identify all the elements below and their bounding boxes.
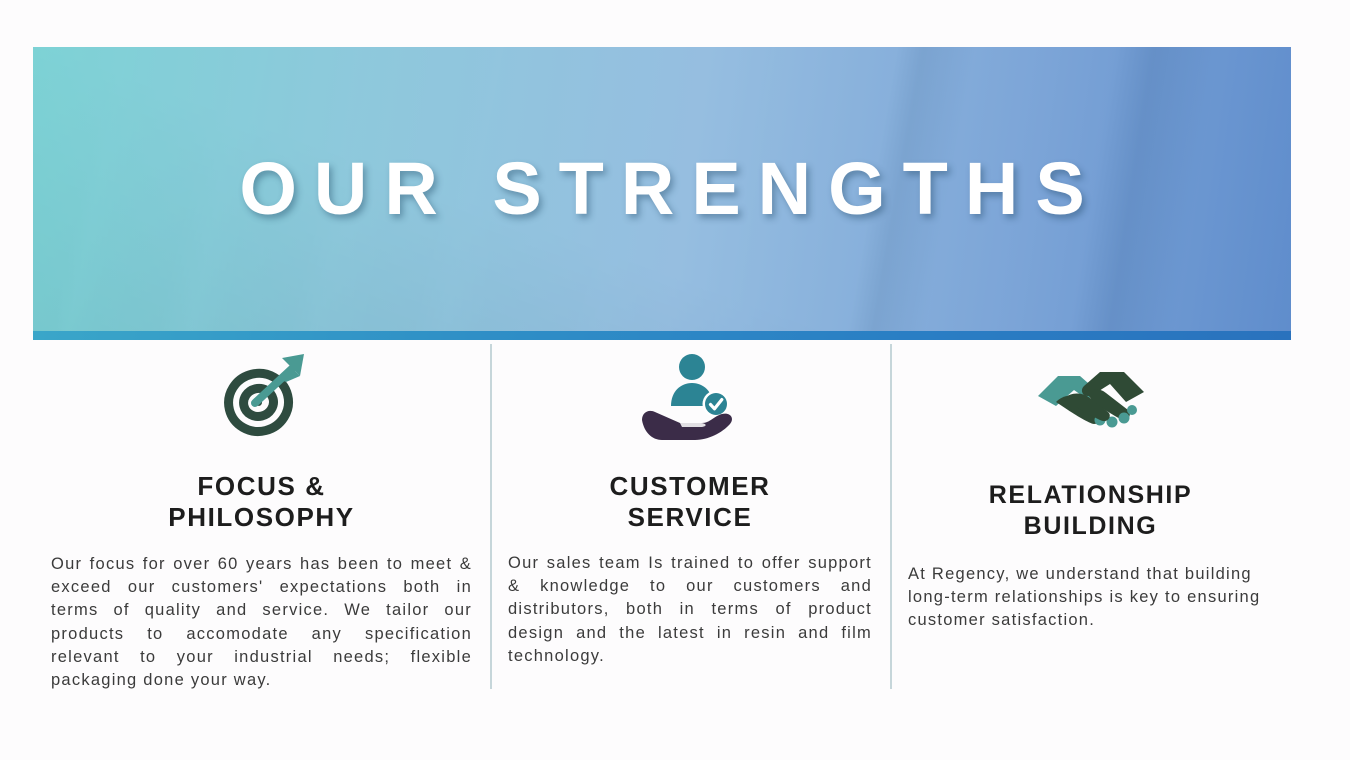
strength-card-relationship-building: RELATIONSHIP BUILDING At Regency, we und… [890,340,1291,700]
target-arrow-icon [51,340,472,450]
card-title: RELATIONSHIP BUILDING [908,480,1273,542]
card-body-text: Our sales team Is trained to offer suppo… [508,552,872,668]
card-body-text: At Regency, we understand that building … [908,563,1273,633]
hand-holding-customer-check-icon [508,340,872,450]
strength-card-focus-philosophy: FOCUS & PHILOSOPHY Our focus for over 60… [33,340,490,700]
page-title: OUR STRENGTHS [33,150,1291,228]
card-body-text: Our focus for over 60 years has been to … [51,553,472,692]
hero-bottom-band [33,331,1291,340]
strength-card-customer-service: CUSTOMER SERVICE Our sales team Is train… [490,340,890,700]
strengths-columns: FOCUS & PHILOSOPHY Our focus for over 60… [33,340,1291,700]
card-title: CUSTOMER SERVICE [508,471,872,533]
handshake-icon [908,340,1273,450]
hero-banner: OUR STRENGTHS [33,47,1291,340]
card-title: FOCUS & PHILOSOPHY [51,471,472,533]
